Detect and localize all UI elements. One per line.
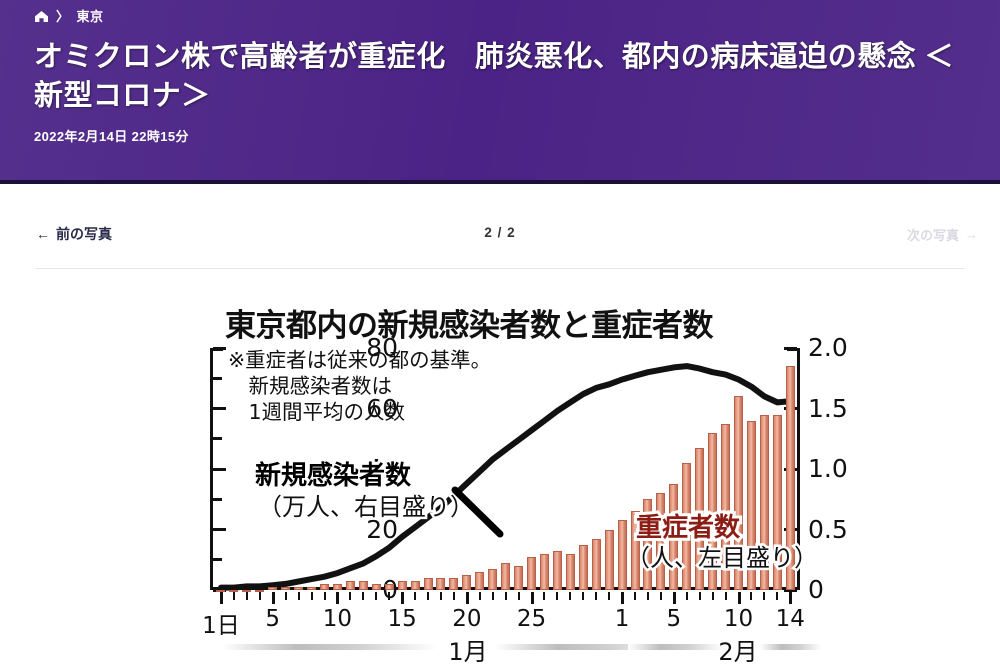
bar [294,587,303,590]
x-minor-tick [349,592,351,600]
x-minor-tick [634,592,636,600]
x-minor-tick [569,592,571,600]
x-major-tick [673,592,676,604]
x-tick-label: 10 [724,606,753,632]
bar [320,584,329,590]
left-minor-tick [213,498,222,501]
x-minor-tick [647,592,649,600]
article-hero-banner: 〉 東京 オミクロン株で高齢者が重症化 肺炎悪化、都内の病床逼迫の懸念 ＜新型コ… [0,0,1000,184]
x-tick-label: 15 [387,606,416,632]
bar [281,587,290,590]
breadcrumb-separator: 〉 [56,6,70,25]
x-minor-tick [556,592,558,600]
bar [488,569,497,590]
page-title: オミクロン株で高齢者が重症化 肺炎悪化、都内の病床逼迫の懸念 ＜新型コロナ＞ [34,38,974,116]
bar [540,554,549,590]
photo-counter: 2 / 2 [0,225,1000,240]
bar [553,551,562,590]
bar [268,587,277,590]
bar [514,566,523,590]
x-minor-tick [298,592,300,600]
x-minor-tick [285,592,287,600]
bar [449,578,458,590]
bar [307,587,316,590]
chart-title: 東京都内の新規感染者数と重症者数 [225,300,713,345]
breadcrumb[interactable]: 〉 東京 [34,6,104,25]
right-tick-label: 1.5 [808,396,848,421]
month-axis: 1月 2月 [0,632,1000,662]
month-label-feb: 2月 [718,632,757,667]
bar-callout-sublabel: （人、左目盛り） [626,538,818,573]
month-bar-feb-right [760,644,822,650]
right-tick-label: 1.0 [808,456,848,481]
left-minor-tick [213,377,222,380]
x-tick-label: 5 [667,606,682,632]
left-tick [213,528,226,531]
line-callout-sublabel: （万人、右目盛り） [258,487,474,522]
x-minor-tick [699,592,701,600]
arrow-right-icon: → [965,227,978,242]
divider [36,268,964,269]
bar [475,572,484,590]
photo-pager: ← 前の写真 2 / 2 次の写真 → [0,184,1000,270]
bar [566,554,575,590]
x-minor-tick [595,592,597,600]
x-minor-tick [660,592,662,600]
next-photo-label: 次の写真 [907,225,959,244]
x-major-tick [466,592,469,604]
x-minor-tick [479,592,481,600]
x-minor-tick [750,592,752,600]
left-minor-tick [213,558,222,561]
x-minor-tick [259,592,261,600]
x-major-tick [336,592,339,604]
x-minor-tick [725,592,727,600]
x-minor-tick [388,592,390,600]
x-minor-tick [414,592,416,600]
x-minor-tick [311,592,313,600]
publish-timestamp: 2022年2月14日 22時15分 [34,126,189,145]
x-tick-label: 5 [265,606,280,632]
x-minor-tick [324,592,326,600]
x-minor-tick [543,592,545,600]
left-tick-label: 80 [366,335,398,360]
x-minor-tick [427,592,429,600]
bar [501,563,510,590]
x-minor-tick [608,592,610,600]
left-minor-tick [213,437,222,440]
month-label-jan: 1月 [448,632,487,667]
x-minor-tick [518,592,520,600]
bar [398,581,407,590]
next-photo-button[interactable]: 次の写真 → [907,225,978,244]
home-icon[interactable] [34,10,49,23]
x-tick-label: 25 [517,606,546,632]
month-bar-feb-left [628,644,723,650]
left-tick [213,407,226,410]
right-tick-label: 0 [808,577,824,602]
right-tick [784,347,797,350]
x-minor-tick [686,592,688,600]
x-minor-tick [763,592,765,600]
x-major-tick [621,592,624,604]
x-major-tick [272,592,275,604]
x-minor-tick [776,592,778,600]
left-tick-label: 60 [366,396,398,421]
breadcrumb-section[interactable]: 東京 [77,6,104,25]
bar [605,530,614,591]
bar [579,545,588,590]
bar [592,539,601,590]
left-tick [213,468,226,471]
bar [411,581,420,590]
left-tick [213,347,226,350]
x-minor-tick [246,592,248,600]
chart-figure: 東京都内の新規感染者数と重症者数 ※重症者は従来の都の基準。 新規感染者数は 1… [0,272,1000,670]
x-major-tick [220,592,223,604]
x-major-tick [789,592,792,604]
x-minor-tick [582,592,584,600]
x-minor-tick [375,592,377,600]
x-minor-tick [453,592,455,600]
x-major-tick [738,592,741,604]
x-minor-tick [233,592,235,600]
bar [436,578,445,590]
bar [333,584,342,590]
x-major-tick [401,592,404,604]
x-minor-tick [492,592,494,600]
x-minor-tick [712,592,714,600]
bar [346,581,355,590]
bar [424,578,433,590]
x-tick-label: 1 [615,606,630,632]
x-minor-tick [440,592,442,600]
x-tick-label: 10 [323,606,352,632]
right-tick-label: 2.0 [808,335,848,360]
x-minor-tick [505,592,507,600]
bar [385,584,394,590]
bar [372,584,381,590]
x-major-tick [531,592,534,604]
month-bar-jan-left [222,644,437,650]
bar [359,581,368,590]
bar [462,575,471,590]
x-tick-label: 20 [452,606,481,632]
x-minor-tick [362,592,364,600]
bar [527,557,536,590]
x-tick-label: 14 [776,606,805,632]
